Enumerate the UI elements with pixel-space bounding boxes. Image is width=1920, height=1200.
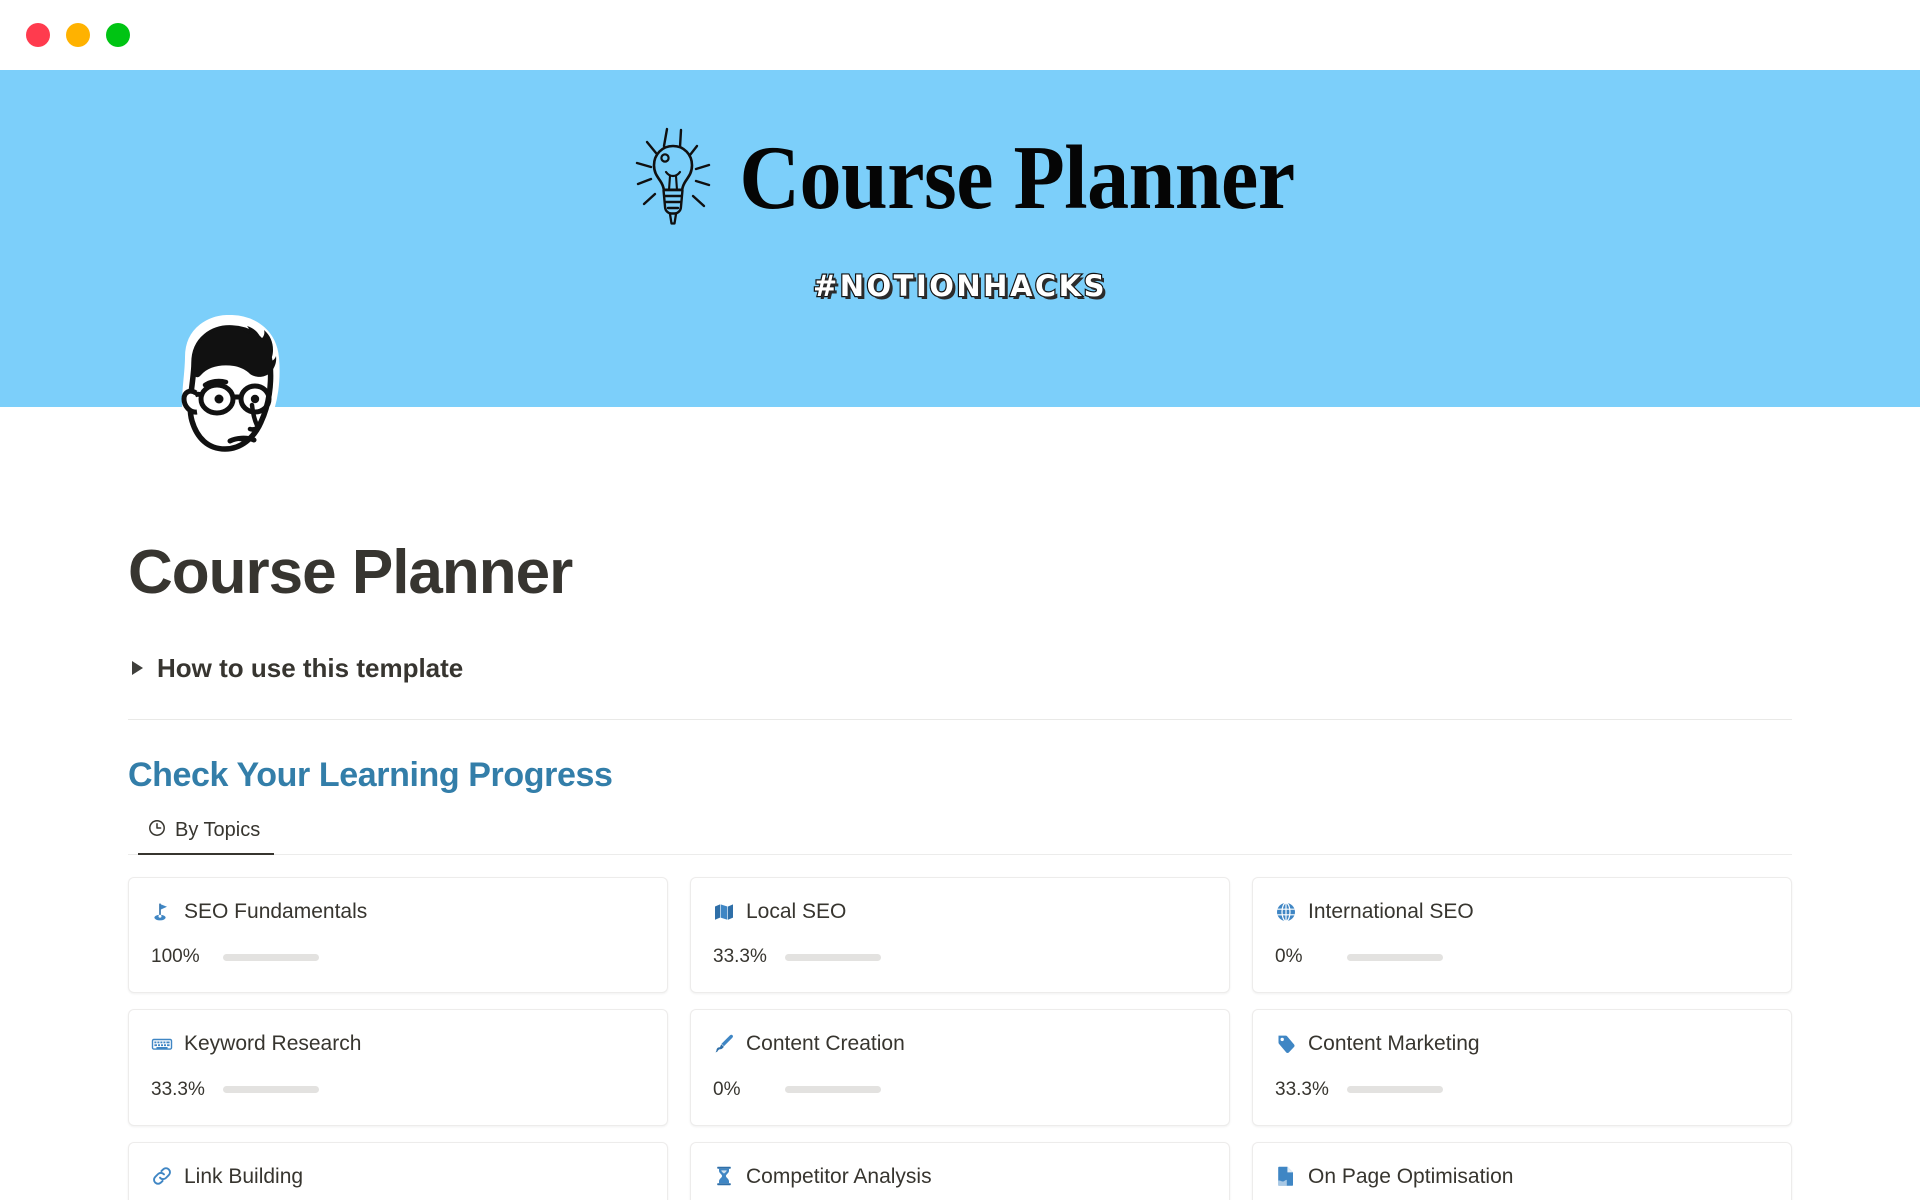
- topic-card-title: SEO Fundamentals: [184, 899, 367, 924]
- topic-progress-percent: 0%: [713, 1079, 771, 1101]
- tag-icon: [1275, 1033, 1297, 1055]
- close-button[interactable]: [26, 23, 50, 47]
- lightbulb-icon: [625, 122, 721, 235]
- topic-progress: 0%: [713, 1079, 1207, 1101]
- topic-card-header: Local SEO: [713, 899, 1207, 924]
- topic-card-title: International SEO: [1308, 899, 1474, 924]
- topic-progress-percent: 33.3%: [713, 946, 771, 968]
- topic-card-title: On Page Optimisation: [1308, 1164, 1513, 1189]
- topic-progress-bar: [223, 1086, 319, 1093]
- topic-progress-bar: [1347, 1086, 1443, 1093]
- topic-card-title: Content Creation: [746, 1031, 905, 1056]
- user-avatar-illustration[interactable]: [163, 315, 285, 470]
- topic-progress-percent: 33.3%: [1275, 1079, 1333, 1101]
- section-divider: [128, 719, 1792, 720]
- topic-progress: 33.3%: [151, 1079, 645, 1101]
- topic-card-header: International SEO: [1275, 899, 1769, 924]
- topic-card-header: Content Creation: [713, 1031, 1207, 1056]
- triangle-right-icon[interactable]: [132, 661, 143, 675]
- topic-card-header: Competitor Analysis: [713, 1164, 1207, 1189]
- link-icon: [151, 1165, 173, 1187]
- tab-by-topics[interactable]: By Topics: [138, 815, 274, 855]
- cover-logo-subtitle: #NOTIONHACKS: [813, 269, 1107, 303]
- topic-card[interactable]: Competitor Analysis33.3%: [690, 1142, 1230, 1200]
- section-title: Check Your Learning Progress: [128, 756, 1792, 795]
- cover-logo-block: Course Planner #NOTIONHACKS: [0, 122, 1920, 303]
- keyboard-icon: [151, 1033, 173, 1055]
- topic-progress-bar: [223, 954, 319, 961]
- topic-card-header: SEO Fundamentals: [151, 899, 645, 924]
- page-icon: [1275, 1165, 1297, 1187]
- toggle-how-to-use[interactable]: How to use this template: [128, 649, 1792, 687]
- topic-progress: 100%: [151, 946, 645, 968]
- topic-card-header: Content Marketing: [1275, 1031, 1769, 1056]
- topic-card-header: On Page Optimisation: [1275, 1164, 1769, 1189]
- minimize-button[interactable]: [66, 23, 90, 47]
- tab-label: By Topics: [175, 819, 260, 842]
- cover-logo-title: Course Planner: [739, 133, 1294, 224]
- topic-progress-percent: 100%: [151, 946, 209, 968]
- topic-progress-bar: [785, 1086, 881, 1093]
- map-icon: [713, 901, 735, 923]
- topic-progress-bar: [785, 954, 881, 961]
- hourglass-icon: [713, 1165, 735, 1187]
- topic-card[interactable]: Content Marketing33.3%: [1252, 1009, 1792, 1125]
- topic-card[interactable]: Content Creation0%: [690, 1009, 1230, 1125]
- page-title: Course Planner: [128, 539, 1792, 607]
- cover-banner: Course Planner #NOTIONHACKS: [0, 70, 1920, 407]
- topic-progress-bar: [1347, 954, 1443, 961]
- view-tabs: By Topics: [128, 815, 1792, 855]
- topic-card[interactable]: International SEO0%: [1252, 877, 1792, 993]
- topic-card-grid: SEO Fundamentals100%Local SEO33.3%Intern…: [128, 877, 1792, 1200]
- topic-progress-percent: 0%: [1275, 946, 1333, 968]
- topic-card-title: Local SEO: [746, 899, 846, 924]
- topic-card-title: Keyword Research: [184, 1031, 361, 1056]
- clock-icon: [148, 819, 166, 842]
- topic-card[interactable]: On Page Optimisation0%: [1252, 1142, 1792, 1200]
- maximize-button[interactable]: [106, 23, 130, 47]
- golf-flag-icon: [151, 901, 173, 923]
- topic-card[interactable]: Local SEO33.3%: [690, 877, 1230, 993]
- topic-card[interactable]: Link Building0%: [128, 1142, 668, 1200]
- paintbrush-icon: [713, 1033, 735, 1055]
- page-content: Course Planner How to use this template …: [0, 539, 1920, 1200]
- topic-card-header: Keyword Research: [151, 1031, 645, 1056]
- topic-progress-percent: 33.3%: [151, 1079, 209, 1101]
- topic-card[interactable]: Keyword Research33.3%: [128, 1009, 668, 1125]
- topic-card[interactable]: SEO Fundamentals100%: [128, 877, 668, 993]
- topic-card-title: Competitor Analysis: [746, 1164, 932, 1189]
- topic-card-header: Link Building: [151, 1164, 645, 1189]
- toggle-label: How to use this template: [157, 653, 463, 684]
- topic-progress: 33.3%: [713, 946, 1207, 968]
- logo-row: Course Planner: [625, 122, 1294, 235]
- topic-card-title: Content Marketing: [1308, 1031, 1480, 1056]
- topic-card-title: Link Building: [184, 1164, 303, 1189]
- topic-progress: 33.3%: [1275, 1079, 1769, 1101]
- globe-icon: [1275, 901, 1297, 923]
- window-title-bar: [0, 0, 1920, 70]
- topic-progress: 0%: [1275, 946, 1769, 968]
